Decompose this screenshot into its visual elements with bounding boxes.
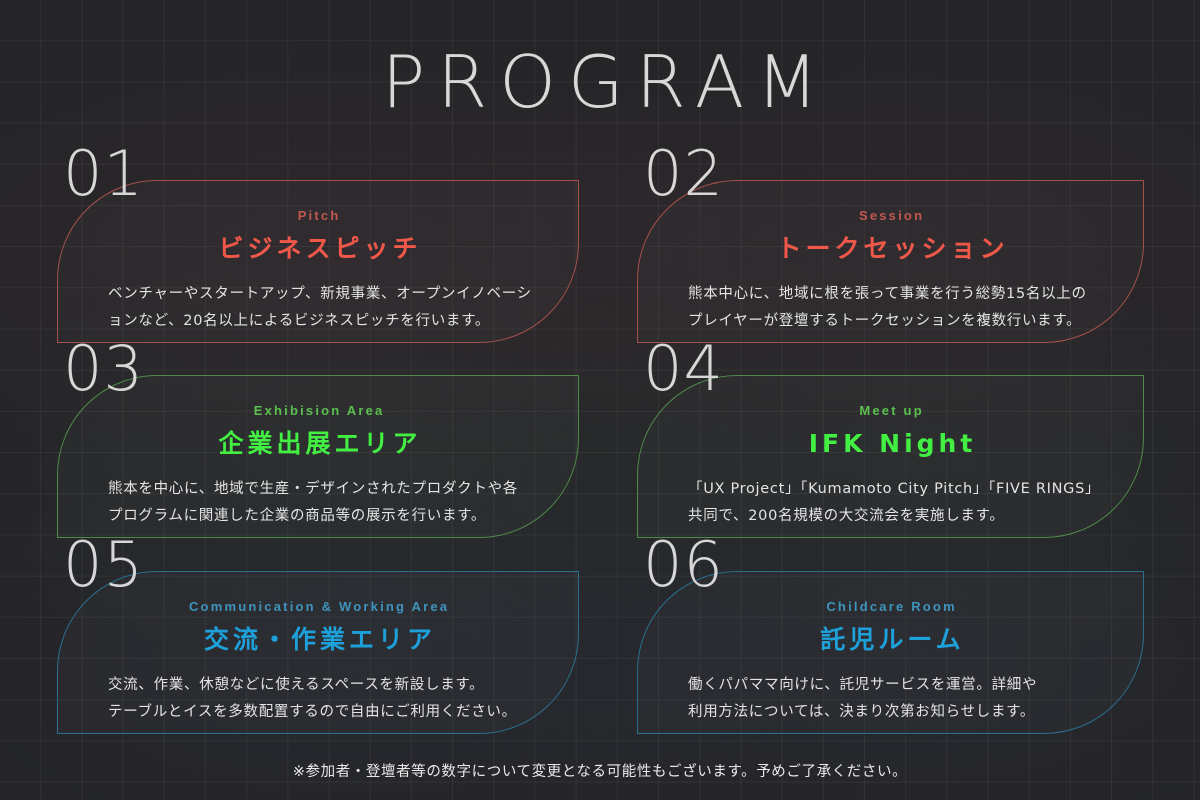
card-heading: 交流・作業エリア — [92, 627, 544, 652]
card-number: 05 — [63, 534, 144, 596]
card-description: 「UX Project」「Kumamoto City Pitch」「FIVE R… — [672, 476, 1109, 530]
description-line: 熊本を中心に、地域で生産・デザインされたプロダクトや各 — [108, 476, 534, 503]
card-number: 04 — [643, 338, 724, 400]
program-card-04: 04 Meet up IFK Night 「UX Project」「Kumamo… — [637, 375, 1144, 538]
program-card-01: 01 Pitch ビジネスピッチ ベンチャーやスタートアップ、新規事業、オープン… — [57, 180, 579, 343]
card-eyebrow: Childcare Room — [672, 600, 1109, 613]
program-card-03: 03 Exhibision Area 企業出展エリア 熊本を中心に、地域で生産・… — [57, 375, 579, 538]
card-eyebrow: Exhibision Area — [92, 404, 544, 417]
description-line: 働くパパママ向けに、託児サービスを運営。詳細や — [688, 672, 1099, 699]
description-line: ョンなど、20名以上によるビジネスピッチを行います。 — [108, 308, 534, 335]
program-card-06: 06 Childcare Room 託児ルーム 働くパパママ向けに、託児サービス… — [637, 571, 1144, 734]
card-eyebrow: Pitch — [92, 209, 544, 222]
card-description: ベンチャーやスタートアップ、新規事業、オープンイノベーシ ョンなど、20名以上に… — [92, 281, 544, 335]
card-number: 02 — [643, 143, 724, 205]
card-eyebrow: Session — [672, 209, 1109, 222]
description-line: 「UX Project」「Kumamoto City Pitch」「FIVE R… — [688, 476, 1099, 503]
card-description: 熊本中心に、地域に根を張って事業を行う総勢15名以上の プレイヤーが登壇するトー… — [672, 281, 1109, 335]
card-number: 01 — [63, 143, 144, 205]
card-description: 熊本を中心に、地域で生産・デザインされたプロダクトや各 プログラムに関連した企業… — [92, 476, 544, 530]
program-card-05: 05 Communication & Working Area 交流・作業エリア… — [57, 571, 579, 734]
card-number: 03 — [63, 338, 144, 400]
program-card-02: 02 Session トークセッション 熊本中心に、地域に根を張って事業を行う総… — [637, 180, 1144, 343]
card-heading: 企業出展エリア — [92, 431, 544, 456]
description-line: 熊本中心に、地域に根を張って事業を行う総勢15名以上の — [688, 281, 1099, 308]
page-title: PROGRAM — [0, 46, 1200, 118]
card-heading: 託児ルーム — [672, 627, 1109, 652]
description-line: 交流、作業、休憩などに使えるスペースを新設します。 — [108, 672, 534, 699]
card-heading: IFK Night — [672, 431, 1109, 456]
card-heading: トークセッション — [672, 236, 1109, 261]
footnote: ※参加者・登壇者等の数字について変更となる可能性もございます。予めご了承ください… — [0, 760, 1200, 781]
description-line: プレイヤーが登壇するトークセッションを複数行います。 — [688, 308, 1099, 335]
description-line: テーブルとイスを多数配置するので自由にご利用ください。 — [108, 699, 534, 726]
card-eyebrow: Communication & Working Area — [92, 600, 544, 613]
card-heading: ビジネスピッチ — [92, 236, 544, 261]
description-line: 利用方法については、決まり次第お知らせします。 — [688, 699, 1099, 726]
description-line: 共同で、200名規模の大交流会を実施します。 — [688, 503, 1099, 530]
card-eyebrow: Meet up — [672, 404, 1109, 417]
description-line: ベンチャーやスタートアップ、新規事業、オープンイノベーシ — [108, 281, 534, 308]
description-line: プログラムに関連した企業の商品等の展示を行います。 — [108, 503, 534, 530]
card-description: 交流、作業、休憩などに使えるスペースを新設します。 テーブルとイスを多数配置する… — [92, 672, 544, 726]
card-number: 06 — [643, 534, 724, 596]
program-section: PROGRAM 01 Pitch ビジネスピッチ ベンチャーやスタートアップ、新… — [0, 0, 1200, 800]
card-description: 働くパパママ向けに、託児サービスを運営。詳細や 利用方法については、決まり次第お… — [672, 672, 1109, 726]
